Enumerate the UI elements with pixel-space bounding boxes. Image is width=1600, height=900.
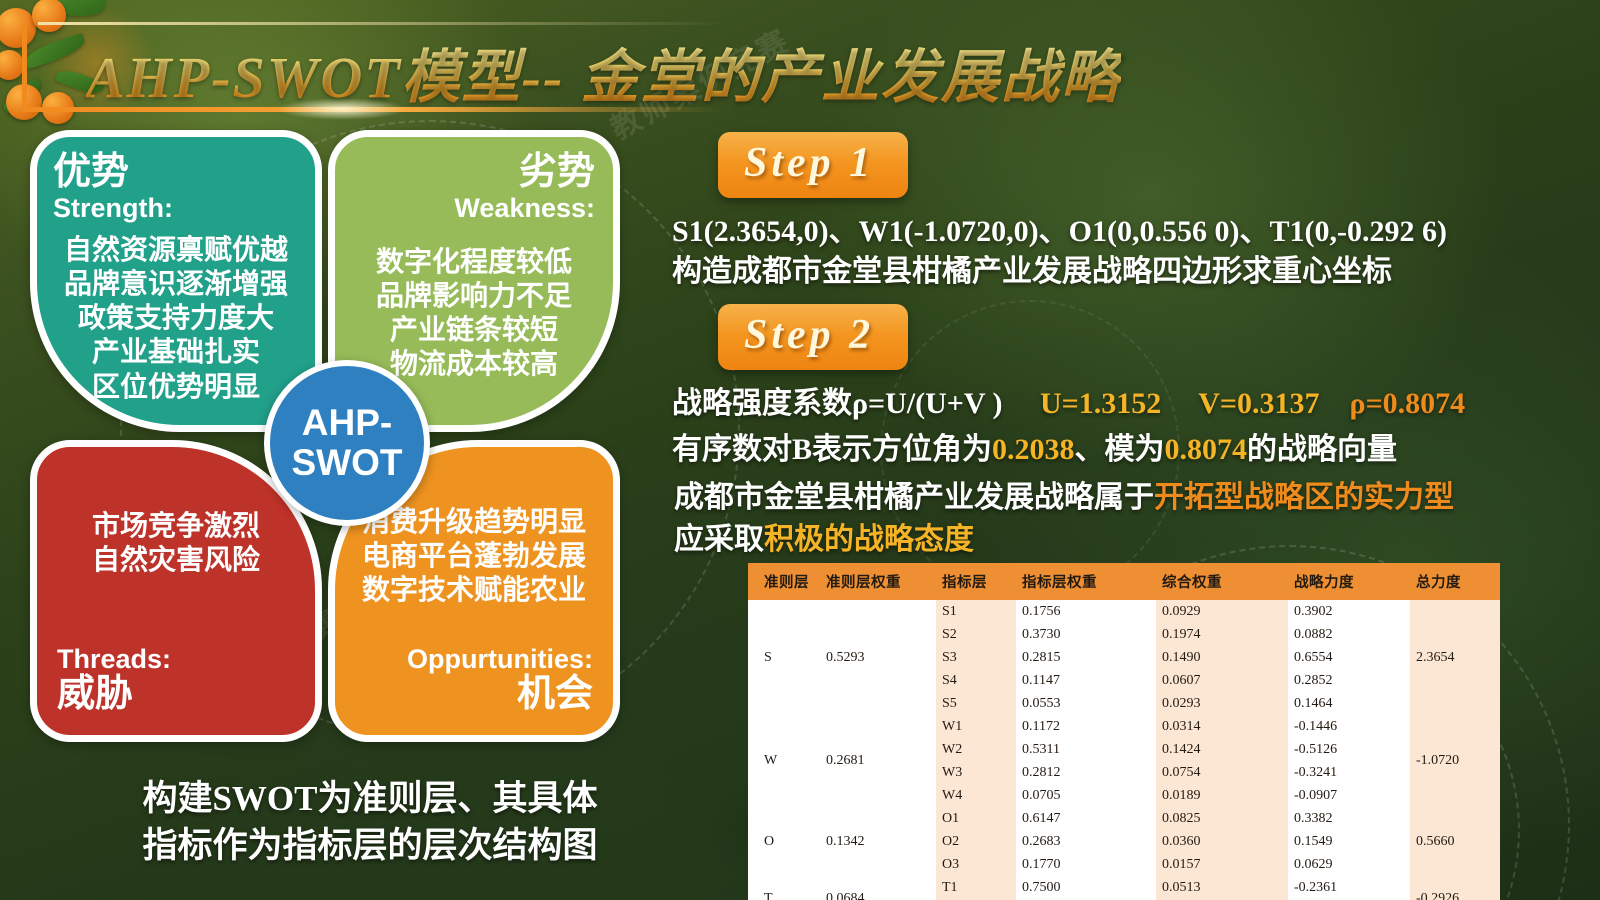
column-header-strategy-force: 战略力度 [1288,563,1410,600]
cell-composite-weight: 0.0293 [1156,692,1288,715]
cell-indicator-weight: 0.6147 [1016,807,1156,830]
column-header-criterion-weight: 准则层权重 [820,563,936,600]
step-2-line-1: 战略强度系数ρ=U/(U+V ) U=1.3152 V=0.3137 ρ=0.8… [672,378,1465,422]
cell-indicator: W1 [936,715,1016,738]
cell-strategy-force: 0.1464 [1288,692,1410,715]
step-2-line-2: 有序数对B表示方位角为0.2038、模为0.8074的战略向量 [672,424,1397,468]
cell-indicator: W2 [936,738,1016,761]
cell-strategy-force: -0.3241 [1288,761,1410,784]
cell-indicator: O3 [936,853,1016,876]
swot-petal-weakness-items: 数字化程度较低 品牌影响力不足 产业链条较短 物流成本较高 [335,245,613,382]
step-2-line-3-prefix: 成都市金堂县柑橘产业发展战略属于 [674,481,1154,514]
cell-strategy-force: 0.3902 [1288,600,1410,623]
cell-strategy-force: 0.0882 [1288,623,1410,646]
azimuth-value: 0.2038 [992,433,1075,466]
cell-composite-weight: 0.0157 [1156,853,1288,876]
step-2-badge: Step 2 [718,304,908,370]
cell-indicator: O1 [936,807,1016,830]
cell-strategy-force: -0.2361 [1288,876,1410,899]
cell-indicator-weight: 0.2812 [1016,761,1156,784]
cell-composite-weight: 0.0314 [1156,715,1288,738]
step-2-line-2-suffix: 的战略向量 [1247,433,1397,466]
cell-composite-weight: 0.0607 [1156,669,1288,692]
cell-indicator-weight: 0.1770 [1016,853,1156,876]
swot-petal-strength[interactable]: 优势 Strength: 自然资源禀赋优越 品牌意识逐渐增强 政策支持力度大 产… [30,130,322,432]
cell-composite-weight: 0.0189 [1156,784,1288,807]
title-left-edge [22,24,27,110]
swot-petal-strength-items: 自然资源禀赋优越 品牌意识逐渐增强 政策支持力度大 产业基础扎实 区位优势明显 [37,233,315,404]
cell-criterion-weight: 0.1342 [820,807,936,876]
title-band: AHP-SWOT模型-- 金堂的产业发展战略 [22,22,1202,110]
cell-strategy-force: -0.0907 [1288,784,1410,807]
step-2-line-4: 应采取积极的战略态度 [674,514,974,558]
cell-indicator-weight: 0.0553 [1016,692,1156,715]
cell-criterion: W [748,715,820,807]
cell-indicator: S2 [936,623,1016,646]
cell-indicator: O2 [936,830,1016,853]
step-1-badge: Step 1 [718,132,908,198]
cell-total-force: 2.3654 [1410,600,1500,715]
column-header-total-force: 总力度 [1410,563,1500,600]
cell-strategy-force: 0.6554 [1288,646,1410,669]
swot-petal-weakness-heading: 劣势 Weakness: [365,153,605,224]
value-rho: ρ=0.8074 [1350,387,1466,420]
modulus-value: 0.8074 [1165,433,1248,466]
swot-caption-line-1: 构建SWOT为准则层、其具体 [70,775,670,822]
cell-indicator-weight: 0.2683 [1016,830,1156,853]
column-header-indicator: 指标层 [936,563,1016,600]
page-title: AHP-SWOT模型-- 金堂的产业发展战略 [86,30,1121,114]
cell-criterion-weight: 0.0684 [820,876,936,900]
swot-petal-threats-items: 市场竞争激烈 自然灾害风险 [37,509,315,577]
cell-indicator-weight: 0.2815 [1016,646,1156,669]
cell-composite-weight: 0.1974 [1156,623,1288,646]
cell-indicator-weight: 0.1172 [1016,715,1156,738]
swot-petal-threats-heading: Threads: 威胁 [47,644,277,715]
cell-indicator: S3 [936,646,1016,669]
cell-indicator-weight: 0.7500 [1016,876,1156,899]
cell-total-force: -0.2926 [1410,876,1500,900]
strategy-attitude-highlight: 积极的战略态度 [764,523,974,556]
step-2-line-2-mid: 、模为 [1075,433,1165,466]
cell-strategy-force: -0.5126 [1288,738,1410,761]
column-header-criterion: 准则层 [748,563,820,600]
swot-petal-opportunities-heading: Oppurtunities: 机会 [363,644,603,715]
cell-criterion: O [748,807,820,876]
step-2-line-3: 成都市金堂县柑橘产业发展战略属于开拓型战略区的实力型 [674,472,1454,516]
cell-total-force: 0.5660 [1410,807,1500,876]
cell-indicator-weight: 0.1756 [1016,600,1156,623]
swot-diagram: 优势 Strength: 自然资源禀赋优越 品牌意识逐渐增强 政策支持力度大 产… [22,128,662,753]
cell-strategy-force: -0.1446 [1288,715,1410,738]
swot-hub-label: AHP-SWOT [292,403,403,483]
cell-criterion: S [748,600,820,715]
cell-strategy-force: 0.3382 [1288,807,1410,830]
strategy-intensity-formula: 战略强度系数ρ=U/(U+V ) [672,387,1003,420]
table-row: O0.1342O10.61470.08250.33820.5660 [748,807,1500,830]
cell-strategy-force: 0.2852 [1288,669,1410,692]
cell-composite-weight: 0.0513 [1156,876,1288,899]
swot-petal-strength-heading: 优势 Strength: [43,153,273,224]
step-2-line-4-prefix: 应采取 [674,523,764,556]
title-top-rule [38,22,728,25]
strategy-zone-highlight: 开拓型战略区的实力型 [1154,481,1454,514]
step-1-line-2: 构造成都市金堂县柑橘产业发展战略四边形求重心坐标 [672,246,1392,290]
ahp-weights-table: 准则层 准则层权重 指标层 指标层权重 综合权重 战略力度 总力度 S0.529… [748,563,1500,900]
cell-composite-weight: 0.0825 [1156,807,1288,830]
value-v: V=0.3137 [1198,387,1319,420]
cell-indicator: S1 [936,600,1016,623]
cell-composite-weight: 0.1490 [1156,646,1288,669]
cell-indicator: W3 [936,761,1016,784]
cell-indicator-weight: 0.5311 [1016,738,1156,761]
cell-indicator: W4 [936,784,1016,807]
column-header-indicator-weight: 指标层权重 [1016,563,1156,600]
cell-strategy-force: 0.1549 [1288,830,1410,853]
table-header-row: 准则层 准则层权重 指标层 指标层权重 综合权重 战略力度 总力度 [748,563,1500,600]
cell-strategy-force: 0.0629 [1288,853,1410,876]
table-row: S0.5293S10.17560.09290.39022.3654 [748,600,1500,623]
value-u: U=1.3152 [1040,387,1161,420]
table-header: 准则层 准则层权重 指标层 指标层权重 综合权重 战略力度 总力度 [748,563,1500,600]
step-1-line-1: S1(2.3654,0)、W1(-1.0720,0)、O1(0,0.556 0)… [672,206,1447,250]
cell-composite-weight: 0.0360 [1156,830,1288,853]
cell-indicator-weight: 0.3730 [1016,623,1156,646]
column-header-composite-weight: 综合权重 [1156,563,1288,600]
cell-composite-weight: 0.0929 [1156,600,1288,623]
swot-caption: 构建SWOT为准则层、其具体 指标作为指标层的层次结构图 [70,775,670,870]
cell-indicator-weight: 0.0705 [1016,784,1156,807]
cell-indicator: T1 [936,876,1016,899]
table-row: T0.0684T10.75000.0513-0.2361-0.2926 [748,876,1500,899]
cell-composite-weight: 0.1424 [1156,738,1288,761]
cell-indicator: S5 [936,692,1016,715]
cell-indicator-weight: 0.1147 [1016,669,1156,692]
table-body: S0.5293S10.17560.09290.39022.3654S20.373… [748,600,1500,900]
cell-criterion-weight: 0.2681 [820,715,936,807]
swot-caption-line-2: 指标作为指标层的层次结构图 [70,822,670,869]
table-row: W0.2681W10.11720.0314-0.1446-1.0720 [748,715,1500,738]
cell-total-force: -1.0720 [1410,715,1500,807]
cell-composite-weight: 0.0754 [1156,761,1288,784]
step-2-line-2-prefix: 有序数对B表示方位角为 [672,433,992,466]
cell-criterion: T [748,876,820,900]
cell-criterion-weight: 0.5293 [820,600,936,715]
ahp-weights-table-wrapper: 准则层 准则层权重 指标层 指标层权重 综合权重 战略力度 总力度 S0.529… [748,563,1500,900]
swot-hub-circle[interactable]: AHP-SWOT [264,360,430,526]
cell-indicator: S4 [936,669,1016,692]
